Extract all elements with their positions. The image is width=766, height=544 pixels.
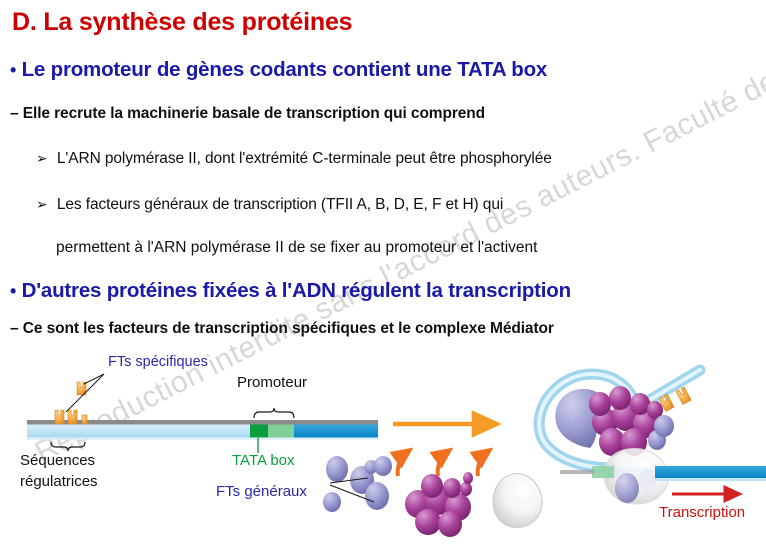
ft-specifiques-leader-lines: [66, 374, 104, 412]
bullet-dot-icon: •: [10, 60, 16, 80]
gene-segment: [294, 425, 378, 438]
specific-tf-bound-icons: [55, 410, 87, 424]
sub-item-2: ➢ Les facteurs généraux de transcription…: [36, 196, 503, 214]
bullet-dot-icon-2: •: [10, 281, 16, 301]
sub-item-2-continuation: permettent à l'ARN polymérase II de se f…: [56, 239, 537, 257]
dash-item-2-label: Ce sont les facteurs de transcription sp…: [23, 320, 554, 337]
diagram-svg: [0, 352, 766, 544]
tata-box-segment: [250, 425, 268, 438]
sub-item-1-label: L'ARN polymérase II, dont l'extrémité C-…: [57, 150, 552, 167]
label-sequences-regulatrices-line1: Séquences: [20, 452, 95, 469]
dna-strand-left: [27, 420, 378, 440]
sub-item-2-label: Les facteurs généraux de transcription (…: [57, 196, 503, 213]
bullet-item-2-label: D'autres protéines fixées à l'ADN régule…: [22, 279, 571, 302]
transcription-diagram: FTs spécifiques Promoteur TATA box Séque…: [0, 352, 766, 544]
label-transcription: Transcription: [659, 504, 745, 521]
label-promoteur: Promoteur: [237, 374, 307, 391]
label-fts-generaux: FTs généraux: [216, 483, 307, 500]
arrow-bullet-icon: ➢: [36, 150, 48, 166]
general-tf-free-icons: [323, 456, 392, 512]
assembly-arrows: [393, 424, 497, 476]
dash-item-1: – Elle recrute la machinerie basale de t…: [10, 105, 485, 123]
mediator-complex-free-icon: [405, 472, 473, 537]
dash-item-1-label: Elle recrute la machinerie basale de tra…: [23, 105, 485, 122]
bullet-item-1-label: Le promoteur de gènes codants contient u…: [22, 58, 548, 81]
dash-item-2: – Ce sont les facteurs de transcription …: [10, 320, 554, 338]
page-title: D. La synthèse des protéines: [12, 8, 352, 37]
rna-polymerase-free-icon: [493, 474, 542, 528]
label-tata-box: TATA box: [232, 452, 295, 469]
sub-item-1: ➢ L'ARN polymérase II, dont l'extrémité …: [36, 150, 552, 168]
label-sequences-regulatrices-line2: régulatrices: [20, 473, 98, 490]
promoter-brace: [254, 408, 294, 418]
dash-glyph-icon: –: [10, 105, 19, 122]
bullet-item-2: • D'autres protéines fixées à l'ADN régu…: [10, 279, 571, 303]
regulatory-sequence-brace: [51, 442, 85, 451]
label-fts-specifiques: FTs spécifiques: [108, 354, 208, 370]
dash-glyph-icon-2: –: [10, 320, 19, 337]
arrow-bullet-icon-2: ➢: [36, 196, 48, 212]
slide-canvas: Reproduction interdite sans l'accord des…: [0, 0, 766, 544]
bullet-item-1: • Le promoteur de gènes codants contient…: [10, 58, 547, 82]
